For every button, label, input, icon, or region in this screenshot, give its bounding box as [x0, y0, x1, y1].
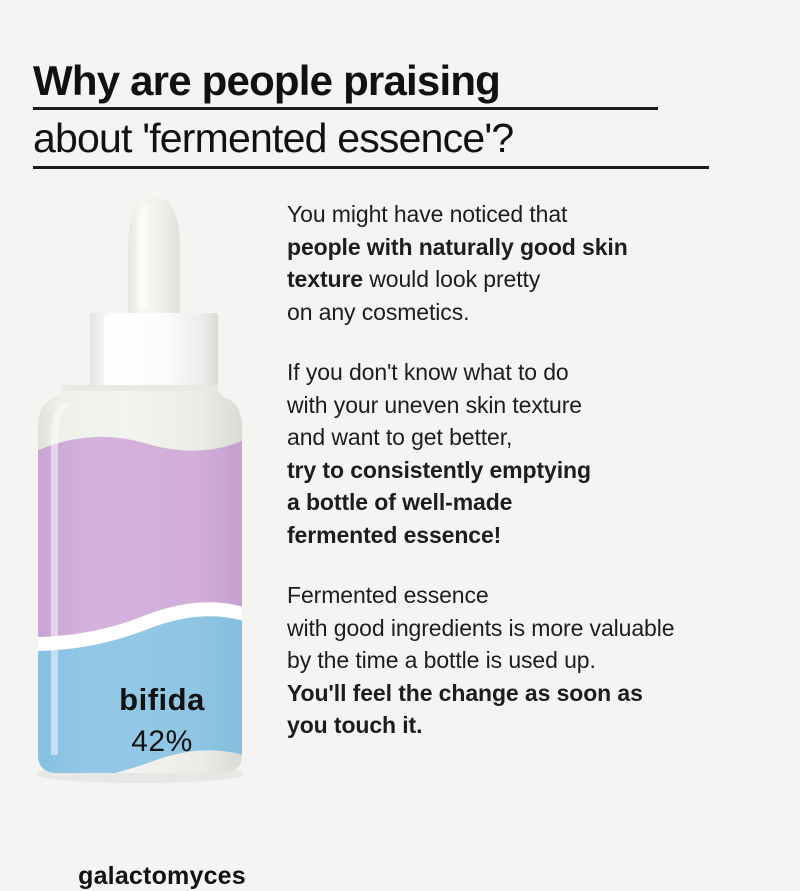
copy-line: with good ingredients is more valuable	[287, 615, 674, 641]
headline-block: Why are people praising about 'fermented…	[33, 58, 753, 169]
copy-line: with your uneven skin texture	[287, 392, 582, 418]
copy-line: If you don't know what to do	[287, 359, 569, 385]
paragraph-1: You might have noticed thatpeople with n…	[287, 198, 767, 328]
copy-line: on any cosmetics.	[287, 299, 469, 325]
body-copy: You might have noticed thatpeople with n…	[287, 198, 767, 742]
copy-line: a bottle of well-made	[287, 489, 512, 515]
copy-line: You might have noticed that	[287, 201, 567, 227]
copy-line: fermented essence!	[287, 522, 501, 548]
label-ingredient-primary-percent: 42%	[36, 725, 288, 759]
copy-line: by the time a bottle is used up.	[287, 647, 596, 673]
dropper-bulb	[128, 197, 180, 313]
copy-line: Fermented essence	[287, 582, 489, 608]
label-ingredient-secondary: galactomyces	[36, 862, 288, 891]
cap-highlight	[104, 317, 118, 387]
copy-line: you touch it.	[287, 712, 422, 738]
label-ingredient-primary: bifida	[36, 682, 288, 718]
copy-line: and want to get better,	[287, 424, 512, 450]
paragraph-2: If you don't know what to dowith your un…	[287, 356, 767, 551]
promo-graphic: Why are people praising about 'fermented…	[0, 0, 800, 800]
bulb-highlight	[138, 205, 148, 309]
headline-line-1: Why are people praising	[33, 58, 658, 110]
headline-line-2: about 'fermented essence'?	[33, 110, 709, 169]
copy-line: people with naturally good skin	[287, 234, 628, 260]
copy-line: You'll feel the change as soon as	[287, 680, 643, 706]
copy-line: texture would look pretty	[287, 266, 540, 292]
copy-line: try to consistently emptying	[287, 457, 591, 483]
paragraph-3: Fermented essencewith good ingredients i…	[287, 579, 767, 742]
product-bottle-illustration: bifida 42% galactomyces	[18, 185, 288, 785]
